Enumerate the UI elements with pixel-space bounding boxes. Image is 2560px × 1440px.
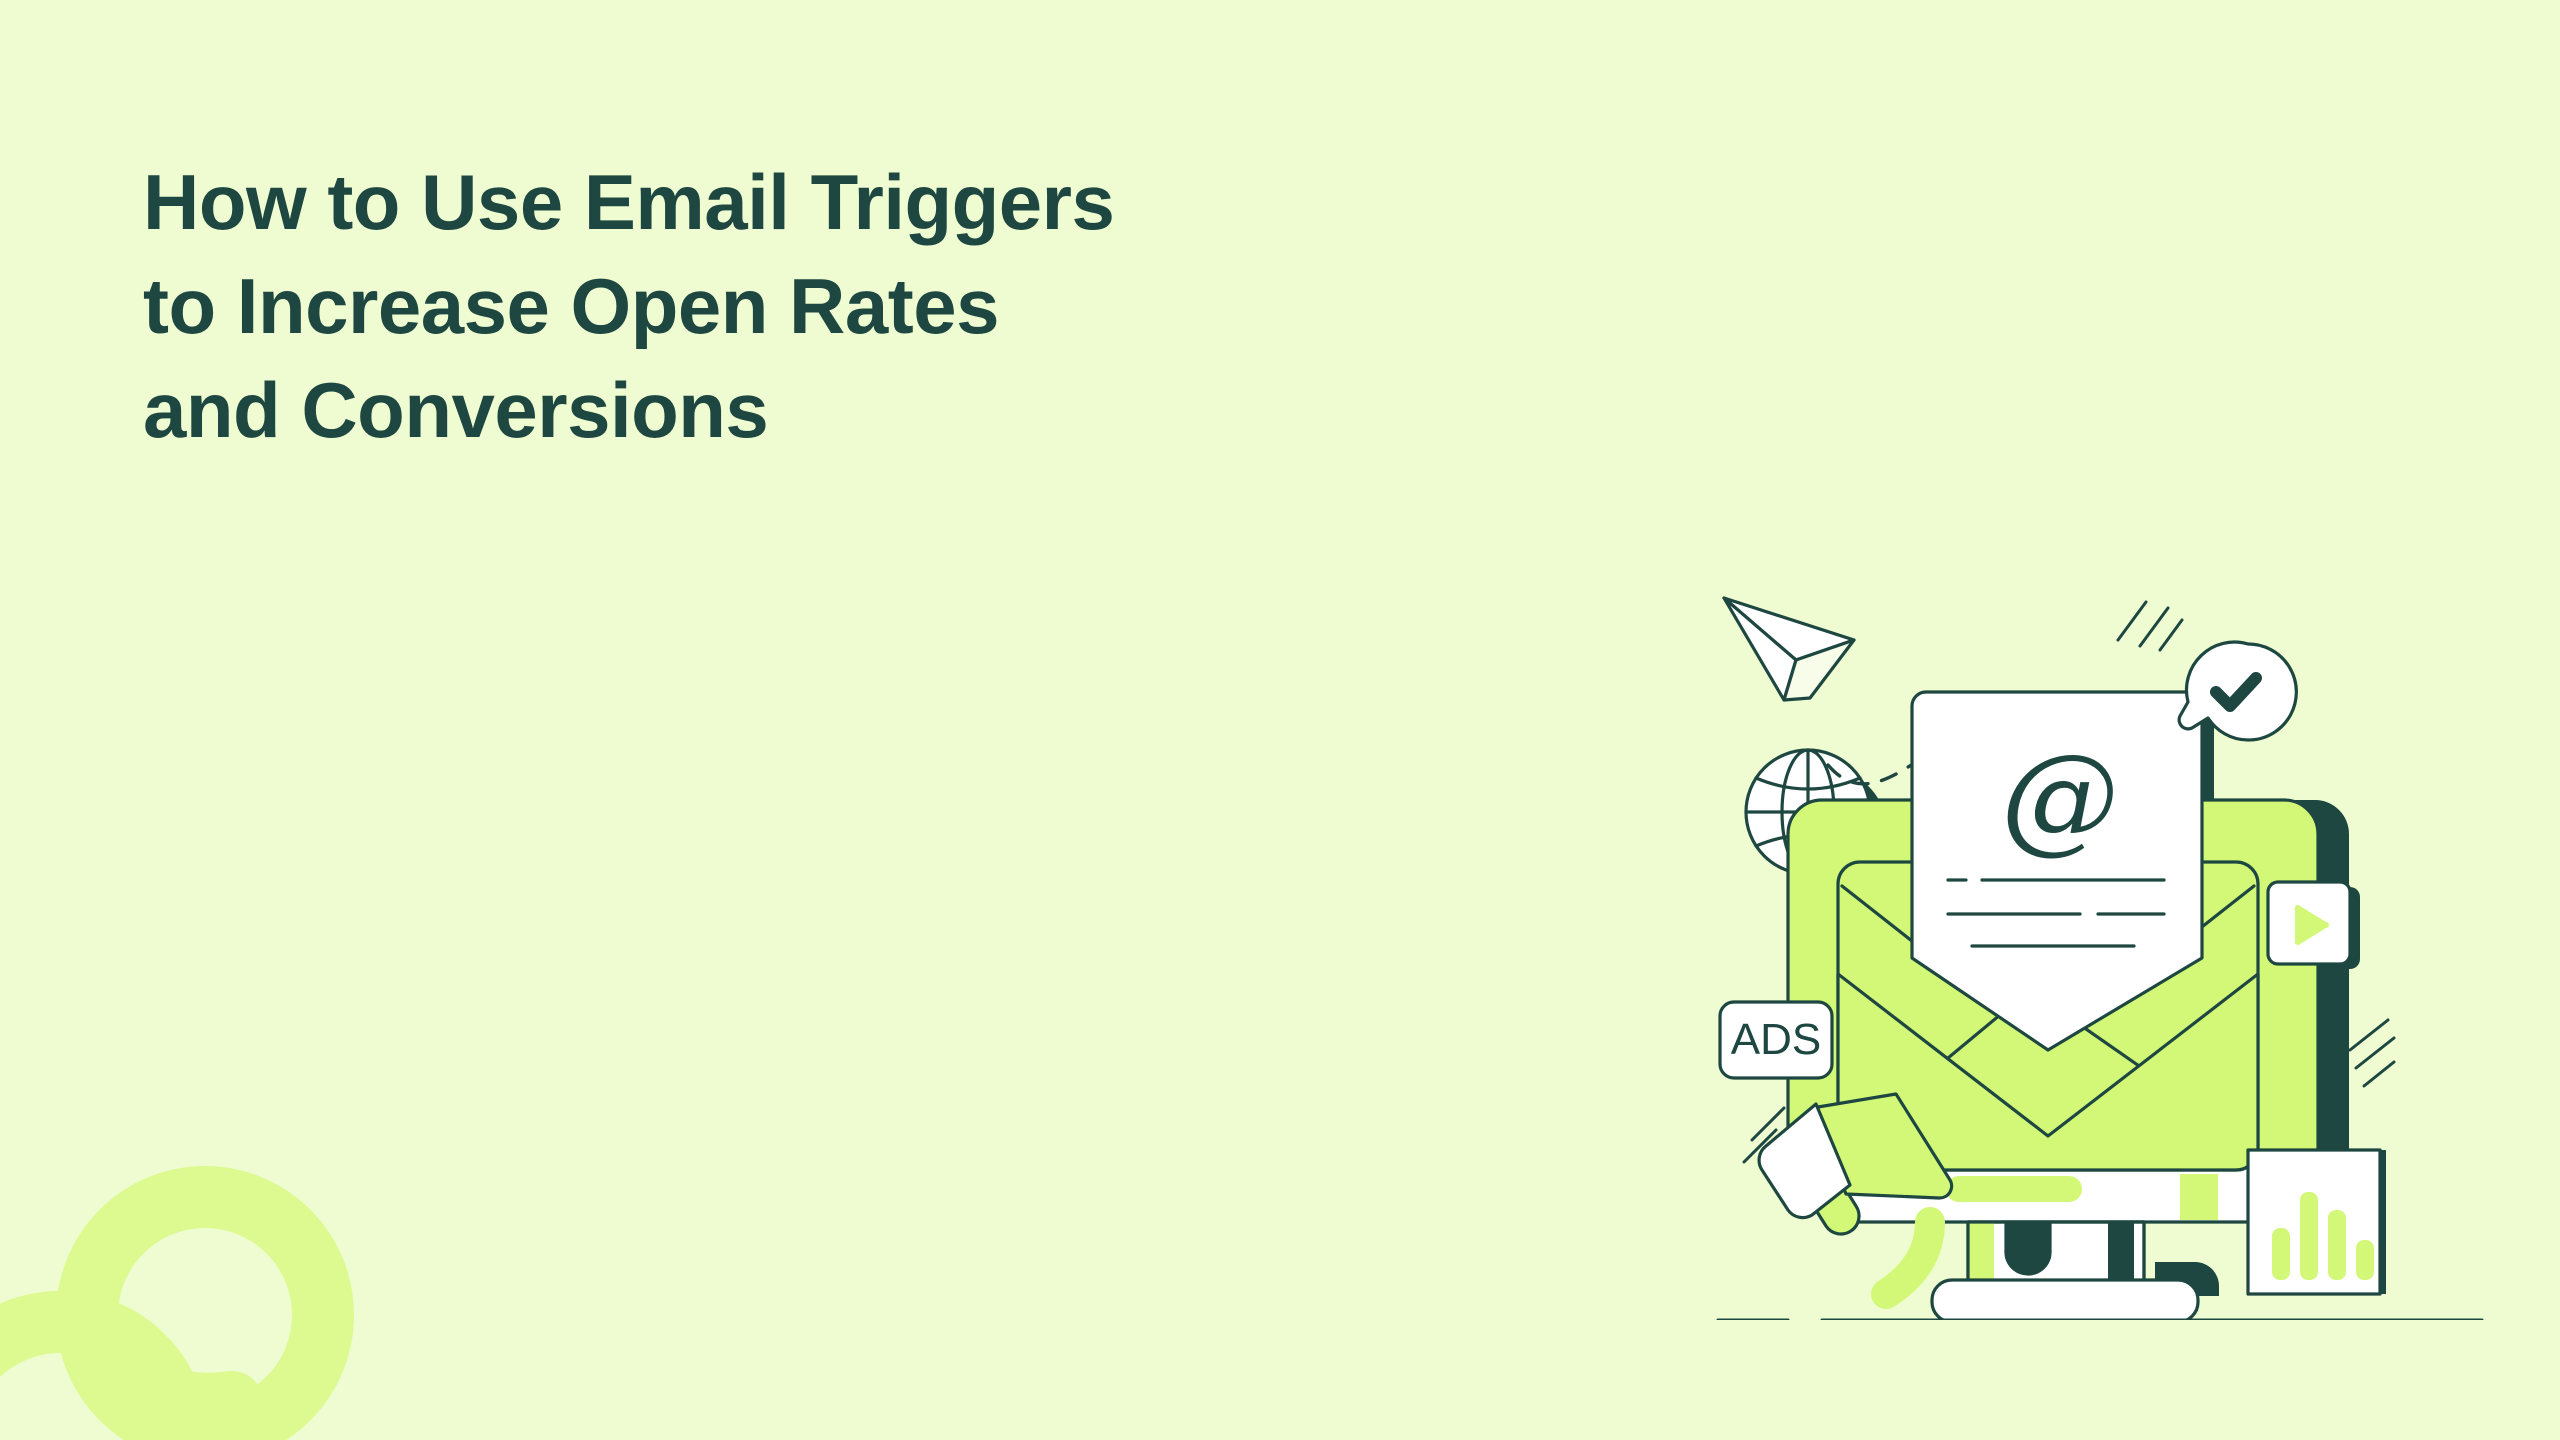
- video-play-card: [2268, 882, 2350, 964]
- monitor-stand: [1886, 1222, 2198, 1320]
- at-symbol: @: [2001, 728, 2119, 866]
- page-title-line-1: How to Use Email Triggers: [143, 150, 1593, 254]
- paper-plane-icon: [1724, 598, 1854, 700]
- hero-banner: How to Use Email Triggers to Increase Op…: [0, 0, 2560, 1440]
- speed-lines: [2118, 602, 2182, 650]
- bar-chart-card: [2248, 1150, 2380, 1294]
- brand-swirl-watermark: [0, 1050, 420, 1440]
- page-title-line-2: to Increase Open Rates: [143, 254, 1593, 358]
- checkmark-speech-bubble: [2179, 642, 2296, 740]
- speed-lines-right: [2350, 1020, 2394, 1086]
- page-title: How to Use Email Triggers to Increase Op…: [143, 150, 1593, 462]
- svg-text:ADS: ADS: [1731, 1015, 1821, 1064]
- email-marketing-illustration: @ ADS: [1700, 580, 2530, 1320]
- page-title-line-3: and Conversions: [143, 358, 1593, 462]
- ads-badge: ADS: [1720, 1002, 1832, 1078]
